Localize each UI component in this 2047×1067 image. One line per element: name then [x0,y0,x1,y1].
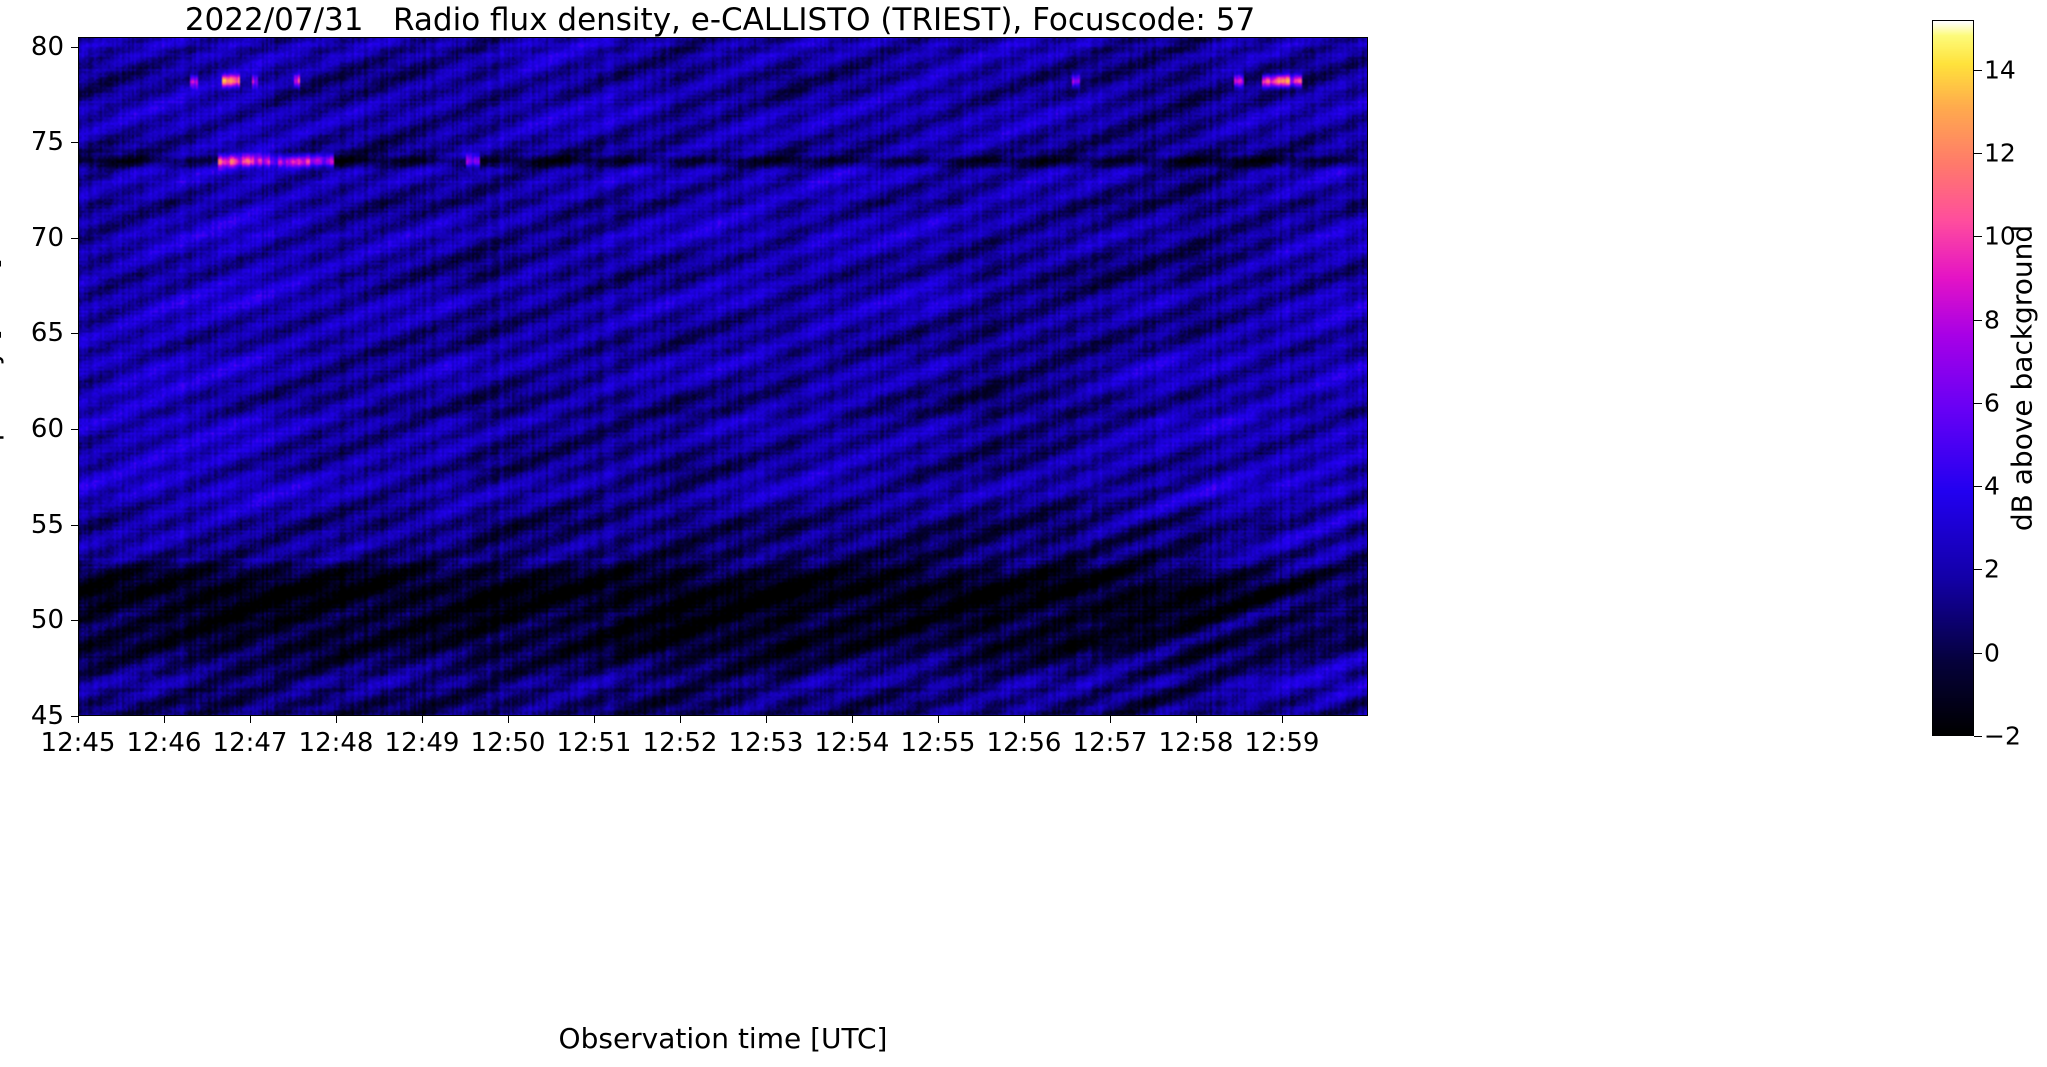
x-tick-label: 12:59 [1245,728,1320,758]
y-tick-mark [71,716,78,717]
colorbar-tick-label: 14 [1984,55,2016,84]
x-tick-label: 12:46 [127,728,202,758]
colorbar-tick-label: −2 [1984,722,2021,751]
x-tick-mark [938,716,939,723]
y-tick-label: 65 [0,318,64,348]
x-tick-mark [1024,716,1025,723]
x-tick-mark [164,716,165,723]
colorbar-tick-mark [1974,569,1982,570]
colorbar-tick-mark [1974,153,1982,154]
y-tick-label: 80 [0,32,64,62]
x-tick-mark [78,716,79,723]
y-tick-mark [71,47,78,48]
colorbar-tick-label: 12 [1984,139,2016,168]
colorbar-label: dB above background [2006,225,2039,531]
y-tick-mark [71,429,78,430]
colorbar-tick-mark [1974,403,1982,404]
x-tick-label: 12:50 [471,728,546,758]
x-tick-label: 12:47 [213,728,288,758]
x-tick-mark [1282,716,1283,723]
x-tick-mark [250,716,251,723]
x-tick-mark [508,716,509,723]
x-tick-label: 12:45 [41,728,116,758]
y-tick-label: 75 [0,127,64,157]
y-tick-label: 45 [0,701,64,731]
x-tick-mark [422,716,423,723]
x-tick-label: 12:48 [299,728,374,758]
y-tick-mark [71,238,78,239]
chart-title: 2022/07/31 Radio flux density, e-CALLIST… [0,2,1440,38]
y-axis-label: Frequency [MHz] [0,258,5,493]
x-tick-mark [1110,716,1111,723]
x-tick-label: 12:52 [643,728,718,758]
x-axis-label: Observation time [UTC] [559,1022,888,1055]
x-tick-label: 12:49 [385,728,460,758]
colorbar-tick-label: 4 [1984,472,2000,501]
y-tick-mark [71,333,78,334]
x-tick-mark [336,716,337,723]
x-tick-mark [766,716,767,723]
x-tick-mark [1196,716,1197,723]
y-tick-mark [71,620,78,621]
spectrogram-plot-area [78,37,1368,716]
x-tick-label: 12:58 [1159,728,1234,758]
y-tick-mark [71,142,78,143]
x-tick-mark [852,716,853,723]
x-tick-mark [594,716,595,723]
colorbar-tick-mark [1974,486,1982,487]
x-tick-label: 12:54 [815,728,890,758]
colorbar-tick-label: 2 [1984,555,2000,584]
colorbar-tick-label: 8 [1984,305,2000,334]
x-tick-mark [680,716,681,723]
figure-root: 2022/07/31 Radio flux density, e-CALLIST… [0,0,2047,1067]
x-tick-label: 12:53 [729,728,804,758]
x-tick-label: 12:51 [557,728,632,758]
spectrogram-canvas [78,37,1368,716]
x-tick-label: 12:56 [987,728,1062,758]
y-tick-label: 70 [0,223,64,253]
colorbar-gradient [1933,21,1973,735]
colorbar-tick-label: 6 [1984,388,2000,417]
colorbar-tick-mark [1974,236,1982,237]
colorbar-tick-mark [1974,70,1982,71]
x-tick-label: 12:57 [1073,728,1148,758]
y-tick-label: 50 [0,605,64,635]
colorbar-tick-mark [1974,653,1982,654]
colorbar-tick-mark [1974,320,1982,321]
colorbar-tick-label: 0 [1984,638,2000,667]
colorbar-tick-mark [1974,736,1982,737]
y-tick-label: 55 [0,510,64,540]
colorbar [1932,20,1974,736]
y-tick-label: 60 [0,414,64,444]
y-tick-mark [71,525,78,526]
x-tick-label: 12:55 [901,728,976,758]
